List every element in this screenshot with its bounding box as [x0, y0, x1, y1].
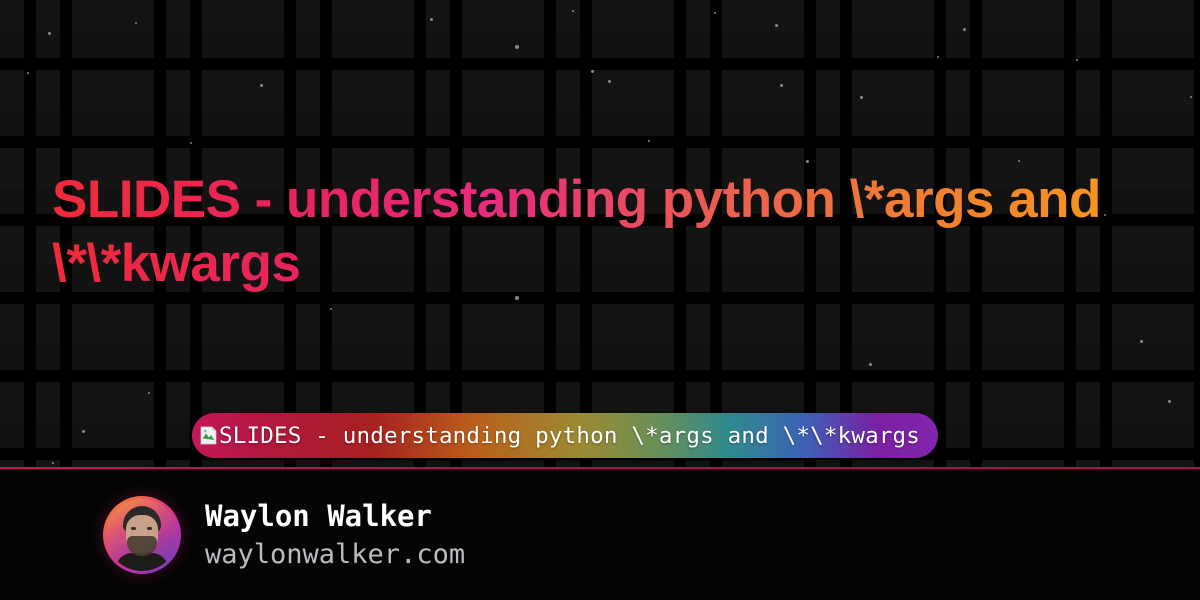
star-dot	[148, 392, 150, 394]
star-dot	[1168, 400, 1171, 403]
star-dot	[860, 96, 863, 99]
star-dot	[775, 24, 778, 27]
star-dot	[82, 430, 85, 433]
star-dot	[591, 70, 594, 73]
star-dot	[48, 32, 51, 35]
author-name: Waylon Walker	[205, 496, 465, 536]
star-dot	[869, 363, 872, 366]
star-dot	[963, 28, 966, 31]
star-dot	[780, 84, 783, 87]
star-dot	[648, 140, 650, 142]
avatar-eye-left	[131, 527, 136, 530]
star-dot	[1076, 59, 1078, 61]
star-dot	[430, 18, 433, 21]
slide-badge-label: SLIDES - understanding python \*args and…	[219, 423, 920, 449]
avatar-image	[106, 499, 178, 571]
footer-bar: Waylon Walker waylonwalker.com July 2, 2…	[0, 469, 1200, 600]
author-identity: Waylon Walker waylonwalker.com	[205, 496, 465, 574]
star-dot	[52, 462, 54, 464]
avatar-eye-right	[147, 527, 152, 530]
star-dot	[330, 308, 332, 310]
star-dot	[806, 160, 809, 163]
avatar	[103, 496, 181, 574]
star-dot	[1190, 96, 1192, 98]
star-dot	[260, 84, 263, 87]
star-dot	[1018, 160, 1020, 162]
star-dot	[515, 296, 519, 300]
page-title: SLIDES - understanding python \*args and…	[52, 168, 1122, 296]
slide-canvas: SLIDES - understanding python \*args and…	[0, 0, 1200, 600]
slide-badge[interactable]: SLIDES - understanding python \*args and…	[192, 413, 938, 458]
broken-image-icon	[200, 426, 217, 445]
star-dot	[27, 72, 29, 74]
star-dot	[515, 45, 519, 49]
author-website[interactable]: waylonwalker.com	[205, 536, 465, 574]
star-dot	[190, 142, 192, 144]
star-dot	[714, 12, 716, 14]
star-dot	[135, 22, 137, 24]
star-dot	[1140, 340, 1143, 343]
star-dot	[572, 10, 574, 12]
star-dot	[608, 80, 611, 83]
star-dot	[937, 56, 939, 58]
